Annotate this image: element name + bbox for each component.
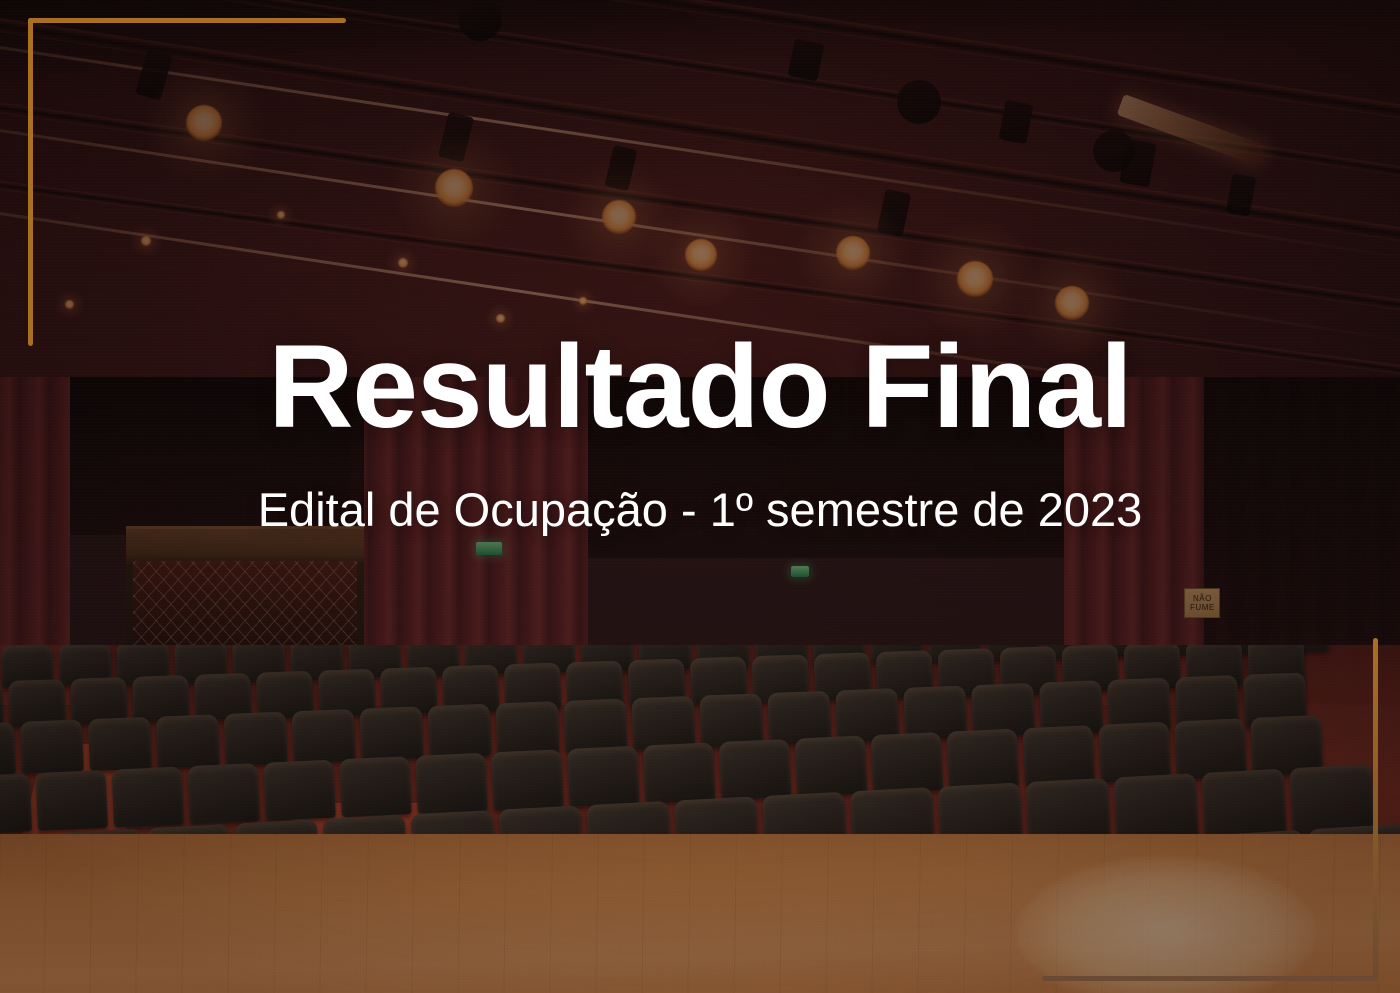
photo-grain-overlay	[0, 0, 1400, 993]
corner-bracket-bottom-right-vertical	[1373, 638, 1378, 981]
corner-bracket-bottom-right-horizontal	[1042, 976, 1378, 981]
background-photograph: NÃO FUME	[0, 0, 1400, 993]
corner-bracket-top-left-horizontal	[28, 18, 346, 23]
corner-bracket-top-left-vertical	[28, 18, 33, 346]
poster-canvas: NÃO FUME	[0, 0, 1400, 993]
